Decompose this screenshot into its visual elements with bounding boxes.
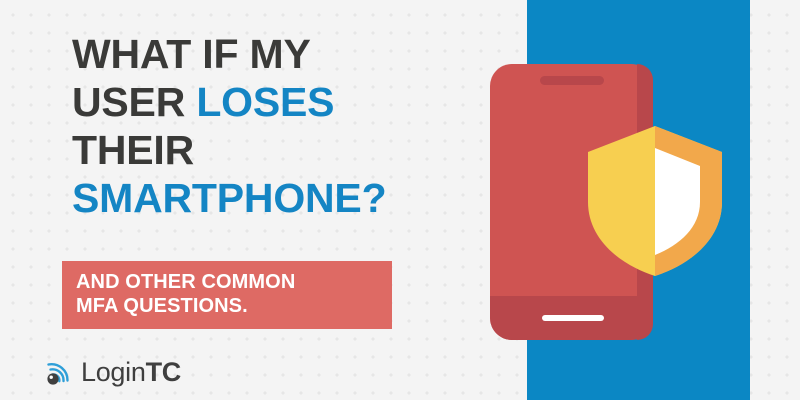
page-title: WHAT IF MY USER LOSES THEIR SMARTPHONE? — [72, 30, 492, 222]
headline-line-2: USER LOSES — [72, 78, 492, 126]
subtitle-banner: AND OTHER COMMON MFA QUESTIONS. — [62, 261, 392, 329]
logo-text-tc: TC — [146, 357, 181, 387]
subtitle-line-2: MFA QUESTIONS. — [76, 294, 378, 318]
logo-text-login: Login — [81, 357, 146, 387]
logo-wordmark: LoginTC — [81, 357, 181, 387]
signal-eye-icon — [43, 357, 73, 387]
logintc-logo[interactable]: LoginTC — [43, 357, 181, 387]
security-shield-icon — [588, 126, 722, 276]
phone-home-indicator — [542, 315, 604, 321]
marketing-banner: WHAT IF MY USER LOSES THEIR SMARTPHONE? … — [0, 0, 800, 400]
headline-line-4: SMARTPHONE? — [72, 174, 492, 222]
headline-line-2-plain: USER — [72, 79, 196, 125]
subtitle-line-1: AND OTHER COMMON — [76, 270, 378, 294]
phone-speaker-slot — [540, 76, 604, 85]
headline-line-2-accent: LOSES — [196, 79, 334, 125]
headline-line-3: THEIR — [72, 126, 492, 174]
headline-line-1: WHAT IF MY — [72, 30, 492, 78]
